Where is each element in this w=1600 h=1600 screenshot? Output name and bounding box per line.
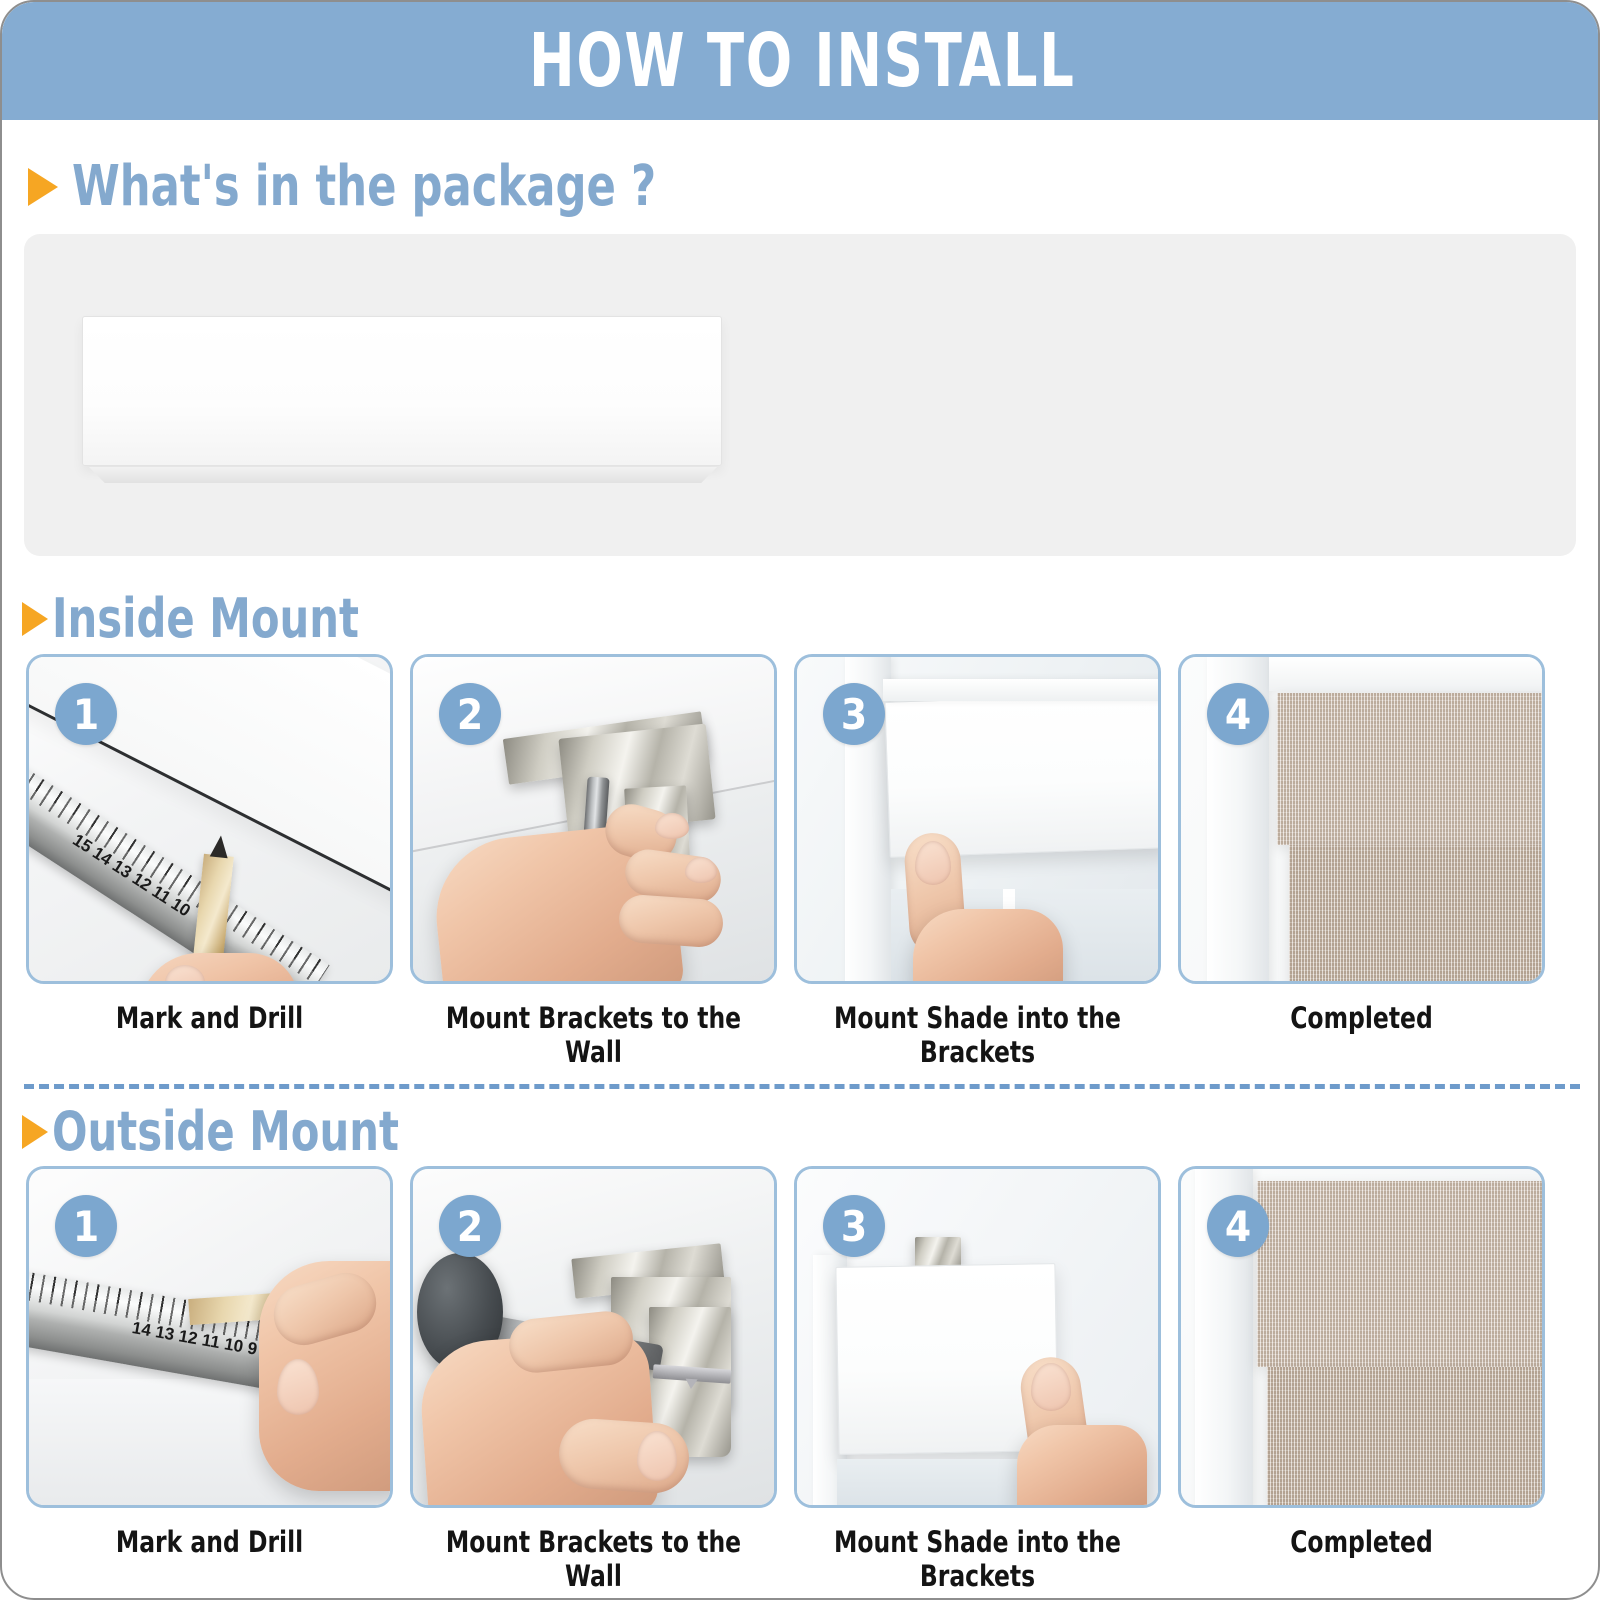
step-badge: 4 bbox=[1207, 1195, 1269, 1257]
inside-mount-steps: 1 15 14 13 12 11 10 2 bbox=[2, 654, 1600, 1069]
outside-mount-card-row: 1 14 13 12 11 10 9 8 2 bbox=[2, 1166, 1600, 1508]
fingernail bbox=[915, 841, 951, 885]
shade-body-fabric bbox=[1267, 1367, 1545, 1508]
step-caption: Completed bbox=[1196, 1525, 1526, 1593]
step-caption: Mount Shade into the Brackets bbox=[812, 1525, 1142, 1593]
step-badge: 3 bbox=[823, 1195, 885, 1257]
step-badge: 1 bbox=[55, 683, 117, 745]
triangle-right-icon bbox=[28, 168, 58, 206]
section-label-outside-mount: Outside Mount bbox=[52, 1100, 399, 1163]
fingernail bbox=[685, 857, 717, 883]
step-card-outside-4[interactable]: 4 bbox=[1178, 1166, 1545, 1508]
shade-headrail bbox=[82, 316, 722, 466]
section-heading-package: What's in the package ? bbox=[28, 154, 751, 219]
step-caption: Mark and Drill bbox=[44, 1001, 374, 1069]
section-label-package: What's in the package ? bbox=[72, 154, 656, 219]
step-badge: 1 bbox=[55, 1195, 117, 1257]
section-label-inside-mount: Inside Mount bbox=[52, 587, 359, 650]
how-to-install-infographic: HOW TO INSTALL What's in the package ? bbox=[0, 0, 1600, 1600]
page-title: HOW TO INSTALL bbox=[529, 18, 1076, 104]
outside-mount-steps: 1 14 13 12 11 10 9 8 2 bbox=[2, 1166, 1600, 1593]
step-card-outside-2[interactable]: 2 bbox=[410, 1166, 777, 1508]
step-caption: Mark and Drill bbox=[44, 1525, 374, 1593]
section-heading-outside-mount: Outside Mount bbox=[22, 1100, 455, 1163]
step-badge: 2 bbox=[439, 683, 501, 745]
package-contents-panel bbox=[24, 234, 1576, 556]
inside-mount-card-row: 1 15 14 13 12 11 10 2 bbox=[2, 654, 1600, 984]
step-card-inside-4[interactable]: 4 bbox=[1178, 654, 1545, 984]
pencil-lead bbox=[210, 835, 230, 859]
hand-palm bbox=[1017, 1425, 1147, 1508]
fingernail bbox=[655, 813, 689, 839]
outside-mount-captions: Mark and Drill Mount Brackets to the Wal… bbox=[2, 1525, 1600, 1593]
shade-body-fabric bbox=[1289, 845, 1545, 984]
section-divider bbox=[24, 1084, 1580, 1089]
step-card-inside-3[interactable]: 3 bbox=[794, 654, 1161, 984]
step-card-inside-2[interactable]: 2 bbox=[410, 654, 777, 984]
step-caption: Completed bbox=[1196, 1001, 1526, 1069]
inside-mount-captions: Mark and Drill Mount Brackets to the Wal… bbox=[2, 1001, 1600, 1069]
step-badge: 4 bbox=[1207, 683, 1269, 745]
window-head-trim bbox=[1269, 657, 1545, 691]
hand-palm bbox=[913, 909, 1063, 984]
shade-valance-fabric bbox=[1277, 693, 1545, 845]
step-card-outside-1[interactable]: 1 14 13 12 11 10 9 8 bbox=[26, 1166, 393, 1508]
window-head-trim bbox=[883, 679, 1161, 701]
step-card-inside-1[interactable]: 1 15 14 13 12 11 10 bbox=[26, 654, 393, 984]
step-caption: Mount Shade into the Brackets bbox=[812, 1001, 1142, 1069]
section-heading-inside-mount: Inside Mount bbox=[22, 587, 409, 650]
step-caption: Mount Brackets to the Wall bbox=[428, 1001, 758, 1069]
step-card-outside-3[interactable]: 3 bbox=[794, 1166, 1161, 1508]
step-badge: 3 bbox=[823, 683, 885, 745]
header-bar: HOW TO INSTALL bbox=[2, 2, 1600, 120]
headrail-sheen bbox=[86, 321, 718, 333]
step-badge: 2 bbox=[439, 1195, 501, 1257]
finger bbox=[617, 893, 724, 948]
shade-valance-fabric bbox=[1257, 1181, 1545, 1367]
triangle-right-icon bbox=[22, 602, 48, 636]
triangle-right-icon bbox=[22, 1115, 48, 1149]
step-caption: Mount Brackets to the Wall bbox=[428, 1525, 758, 1593]
